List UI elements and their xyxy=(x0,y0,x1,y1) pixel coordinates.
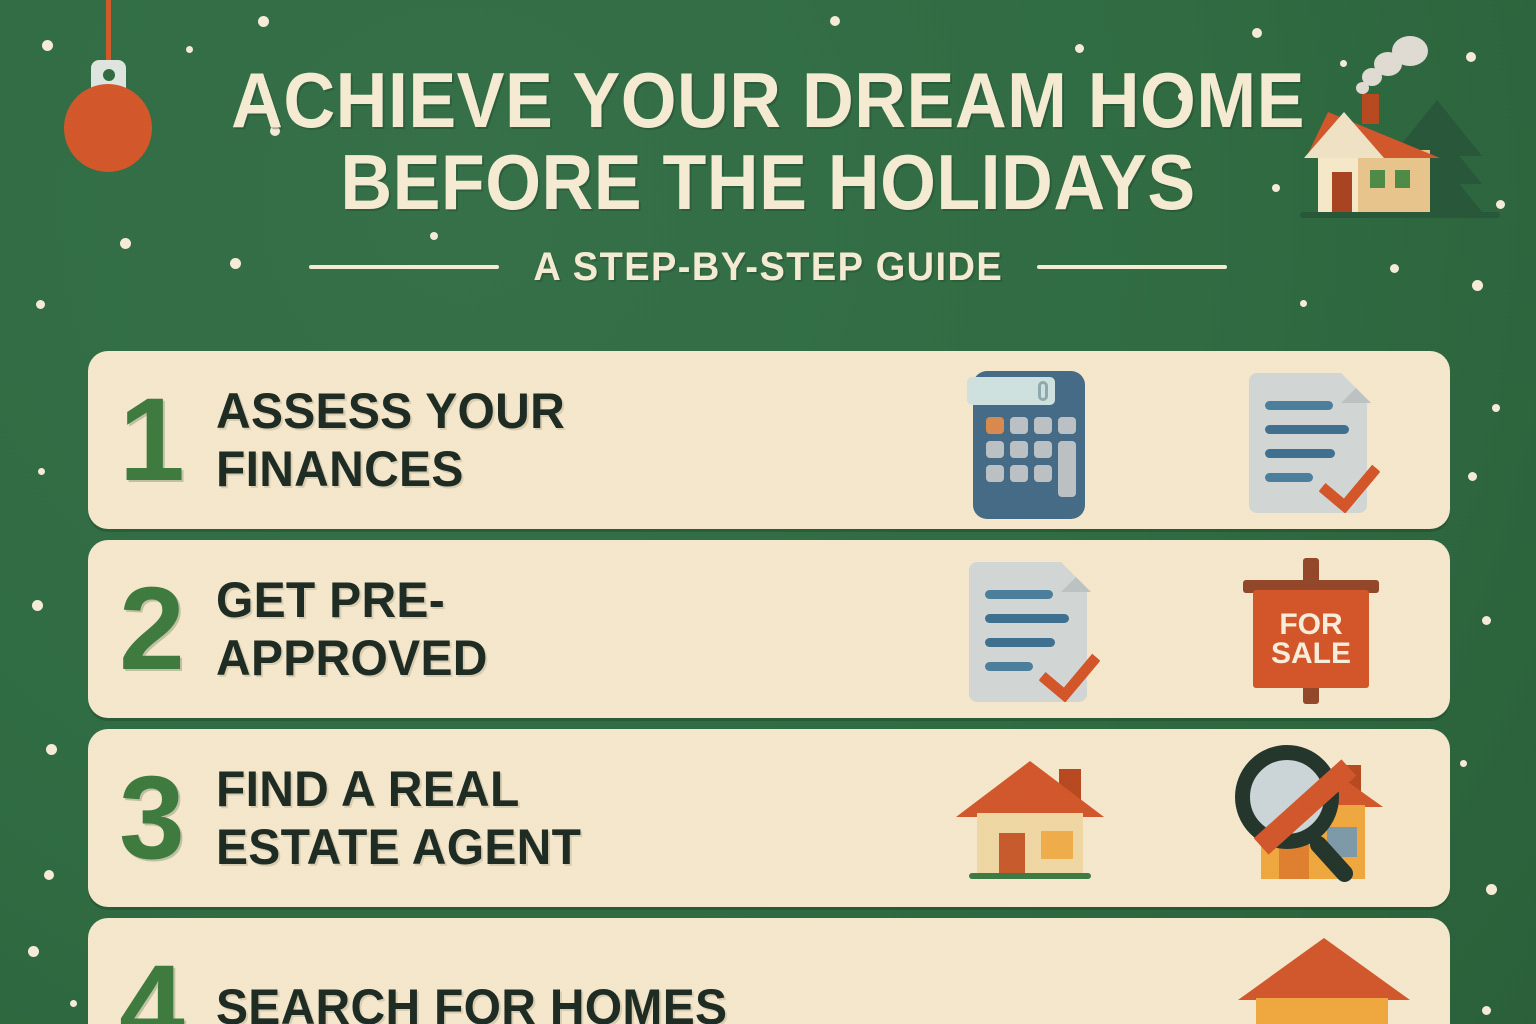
step-number: 2 xyxy=(88,570,216,688)
snow-dot xyxy=(46,744,57,755)
step-title: FIND A REAL ESTATE AGENT xyxy=(216,760,863,876)
document-check-icon xyxy=(955,554,1105,704)
house-icon xyxy=(955,743,1105,893)
snow-dot xyxy=(1486,884,1497,895)
snow-dot xyxy=(1460,760,1467,767)
divider-left xyxy=(309,265,499,269)
step-card-3[interactable]: 3 FIND A REAL ESTATE AGENT xyxy=(88,729,1450,907)
page-title-line1: ACHIEVE YOUR DREAM HOME xyxy=(61,62,1474,138)
for-sale-line1: FOR xyxy=(1279,610,1342,639)
snow-dot xyxy=(1482,616,1491,625)
house-icon xyxy=(1230,918,1420,1024)
snow-dot xyxy=(38,468,45,475)
document-check-icon xyxy=(1235,365,1385,515)
snow-dot xyxy=(28,946,39,957)
step-title-line1: ASSESS YOUR xyxy=(216,382,863,440)
snow-dot xyxy=(1482,1006,1491,1015)
snow-dot xyxy=(36,300,45,309)
step-icons: FOR SALE xyxy=(890,540,1450,718)
step-number: 4 xyxy=(88,948,216,1024)
step-title-line1: SEARCH FOR HOMES xyxy=(216,978,834,1024)
snow-dot xyxy=(1492,404,1500,412)
step-title: SEARCH FOR HOMES xyxy=(216,978,834,1024)
step-icons xyxy=(890,729,1450,907)
house-search-icon xyxy=(1235,743,1385,893)
step-card-1[interactable]: 1 ASSESS YOUR FINANCES xyxy=(88,351,1450,529)
step-card-4[interactable]: 4 SEARCH FOR HOMES xyxy=(88,918,1450,1024)
steps-list: 1 ASSESS YOUR FINANCES xyxy=(88,351,1450,1024)
page-subtitle: A STEP-BY-STEP GUIDE xyxy=(533,245,1003,290)
step-title-line1: FIND A REAL xyxy=(216,760,863,818)
step-title: ASSESS YOUR FINANCES xyxy=(216,382,863,498)
step-title-line2: FINANCES xyxy=(216,440,863,498)
infographic-poster: ACHIEVE YOUR DREAM HOME BEFORE THE HOLID… xyxy=(0,0,1536,1024)
poster-header: ACHIEVE YOUR DREAM HOME BEFORE THE HOLID… xyxy=(0,0,1536,290)
snow-dot xyxy=(70,1000,77,1007)
step-card-2[interactable]: 2 GET PRE- APPROVED xyxy=(88,540,1450,718)
step-title: GET PRE- APPROVED xyxy=(216,571,863,687)
step-title-line1: GET PRE- xyxy=(216,571,863,629)
step-number: 3 xyxy=(88,759,216,877)
snow-dot xyxy=(32,600,43,611)
snow-dot xyxy=(1300,300,1307,307)
snow-dot xyxy=(44,870,54,880)
snow-dot xyxy=(1468,472,1477,481)
step-title-line2: ESTATE AGENT xyxy=(216,818,863,876)
for-sale-line2: SALE xyxy=(1271,639,1351,668)
for-sale-sign-icon: FOR SALE xyxy=(1235,554,1385,704)
step-icons xyxy=(860,918,1450,1024)
step-title-line2: APPROVED xyxy=(216,629,863,687)
step-icons xyxy=(890,351,1450,529)
subtitle-row: A STEP-BY-STEP GUIDE xyxy=(0,245,1536,290)
page-title-line2: BEFORE THE HOLIDAYS xyxy=(61,144,1474,220)
calculator-icon xyxy=(955,365,1105,515)
step-number: 1 xyxy=(88,381,216,499)
divider-right xyxy=(1037,265,1227,269)
